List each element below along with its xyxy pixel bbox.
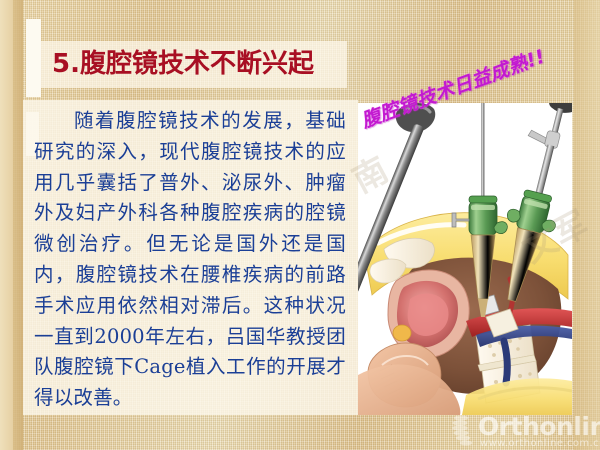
laparoscopic-surgery-illustration: [358, 103, 572, 415]
illustration-panel: [358, 103, 572, 415]
background-band-right: [574, 0, 600, 450]
background-band-left-outer: [0, 0, 13, 450]
brand-name: Orthonline: [478, 412, 600, 441]
page-title: 5.腹腔镜技术不断兴起: [52, 41, 352, 88]
title-accent-bar: [26, 19, 41, 97]
brand-url: www.orthonline.com.cn: [480, 438, 600, 449]
background-band-left-inner: [13, 0, 23, 450]
brand-watermark: Orthonline www.orthonline.com.cn: [452, 412, 600, 450]
presentation-slide: 5.腹腔镜技术不断兴起 随着腹腔镜技术的发展，基础研究的深入，现代腹腔镜技术的应…: [0, 0, 600, 450]
body-paragraph: 随着腹腔镜技术的发展，基础研究的深入，现代腹腔镜技术的应用几乎囊括了普外、泌尿外…: [34, 106, 346, 406]
spine-icon: [452, 414, 482, 446]
